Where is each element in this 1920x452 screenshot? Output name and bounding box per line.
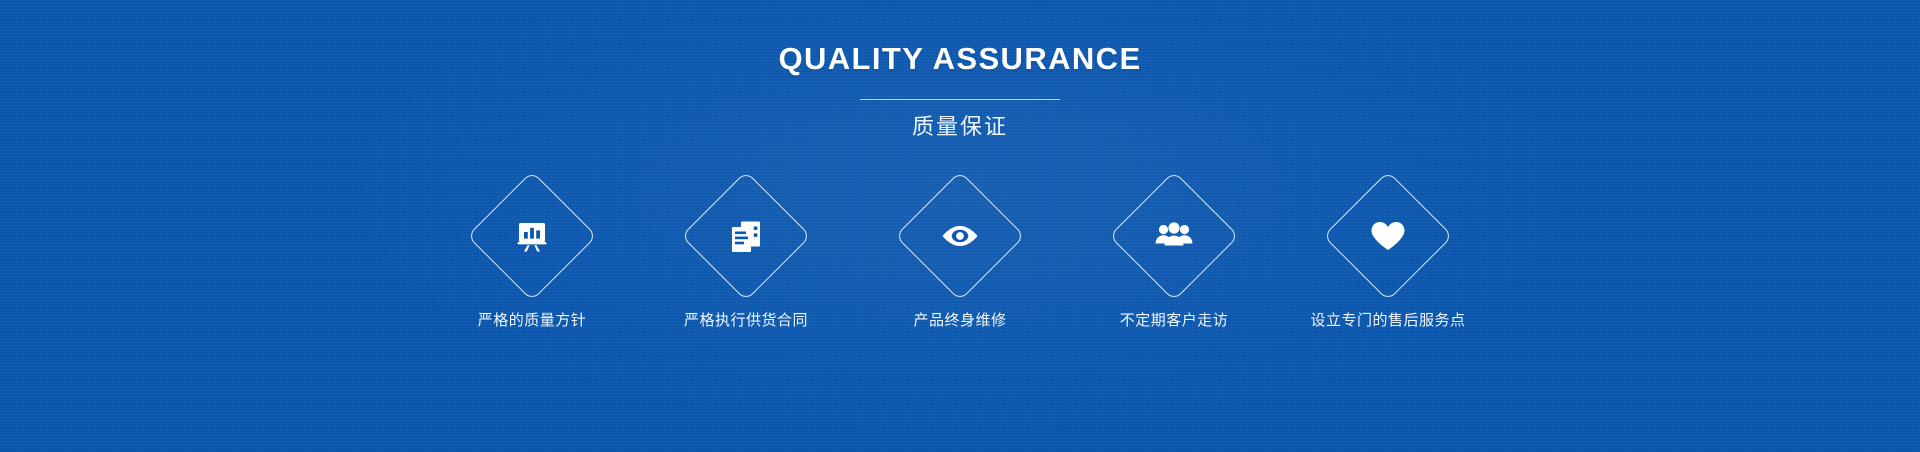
page-title-chinese: 质量保证 xyxy=(0,112,1920,142)
documents-contract-icon xyxy=(723,213,769,259)
heart-icon xyxy=(1365,213,1411,259)
feature-label-3: 产品终身维修 xyxy=(913,310,1006,332)
diamond-frame-2 xyxy=(681,171,811,301)
feature-list: 严格的质量方针 xyxy=(0,190,1920,332)
feature-item-lifetime-repair[interactable]: 产品终身维修 xyxy=(853,190,1067,332)
presentation-chart-icon xyxy=(509,213,555,259)
people-group-icon xyxy=(1151,213,1197,259)
feature-item-supply-contract[interactable]: 严格执行供货合同 xyxy=(639,190,853,332)
title-divider xyxy=(860,99,1060,100)
diamond-frame-4 xyxy=(1109,171,1239,301)
banner-content: QUALITY ASSURANCE 质量保证 xyxy=(0,0,1920,452)
feature-label-4: 不定期客户走访 xyxy=(1120,310,1229,332)
feature-item-service-points[interactable]: 设立专门的售后服务点 xyxy=(1281,190,1495,332)
diamond-frame-5 xyxy=(1323,171,1453,301)
feature-label-5: 设立专门的售后服务点 xyxy=(1310,310,1465,332)
diamond-frame-3 xyxy=(895,171,1025,301)
diamond-frame-1 xyxy=(467,171,597,301)
banner-heading: QUALITY ASSURANCE 质量保证 xyxy=(0,40,1920,142)
feature-label-2: 严格执行供货合同 xyxy=(684,310,808,332)
feature-item-quality-policy[interactable]: 严格的质量方针 xyxy=(425,190,639,332)
feature-item-customer-visits[interactable]: 不定期客户走访 xyxy=(1067,190,1281,332)
quality-assurance-banner: QUALITY ASSURANCE 质量保证 xyxy=(0,0,1920,452)
feature-label-1: 严格的质量方针 xyxy=(478,310,587,332)
eye-icon xyxy=(937,213,983,259)
page-title-english: QUALITY ASSURANCE xyxy=(0,40,1920,78)
